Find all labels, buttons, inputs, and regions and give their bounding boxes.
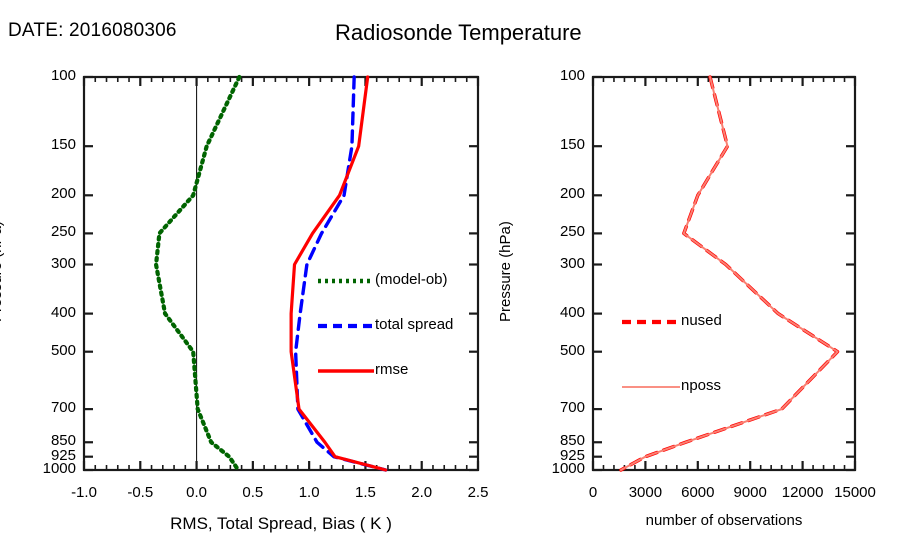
y-tick-label-left-panel: 200: [22, 185, 76, 202]
x-tick-label-left-panel: 2.5: [433, 484, 523, 501]
y-tick-label-right-panel: 150: [531, 136, 585, 153]
y-tick-label-right-panel: 250: [531, 223, 585, 240]
y-tick-label-left-panel: 400: [22, 304, 76, 321]
series-line-nused: [621, 77, 838, 470]
series-line-nposs: [621, 77, 838, 470]
legend-label-rmse: rmse: [375, 361, 408, 378]
y-tick-label-right-panel: 400: [531, 304, 585, 321]
x-tick-label-right-panel: 15000: [810, 484, 900, 501]
legend-label-total-spread: total spread: [375, 316, 453, 333]
y-tick-label-left-panel: 100: [22, 67, 76, 84]
x-axis-title-right-panel: number of observations: [473, 512, 900, 529]
y-tick-label-right-panel: 500: [531, 342, 585, 359]
y-tick-label-left-panel: 500: [22, 342, 76, 359]
legend-label-bias: (model-ob): [375, 271, 448, 288]
plot-canvas: [0, 0, 900, 560]
y-axis-title-right-panel: Pressure (hPa): [497, 221, 514, 322]
y-tick-label-left-panel: 1000: [22, 460, 76, 477]
y-tick-label-right-panel: 1000: [531, 460, 585, 477]
chart-page: DATE: 2016080306 Radiosonde Temperature …: [0, 0, 900, 560]
y-tick-label-left-panel: 150: [22, 136, 76, 153]
y-tick-label-right-panel: 700: [531, 399, 585, 416]
y-tick-label-right-panel: 200: [531, 185, 585, 202]
series-line-total-spread: [296, 77, 386, 470]
y-tick-label-left-panel: 250: [22, 223, 76, 240]
y-axis-title-left-panel: Pressure (hPa): [0, 221, 5, 322]
y-tick-label-right-panel: 300: [531, 255, 585, 272]
legend-label-nused: nused: [681, 312, 722, 329]
y-tick-label-right-panel: 100: [531, 67, 585, 84]
series-line--model-ob-: [156, 77, 239, 470]
y-tick-label-left-panel: 300: [22, 255, 76, 272]
legend-label-nposs: nposs: [681, 377, 721, 394]
y-tick-label-left-panel: 700: [22, 399, 76, 416]
